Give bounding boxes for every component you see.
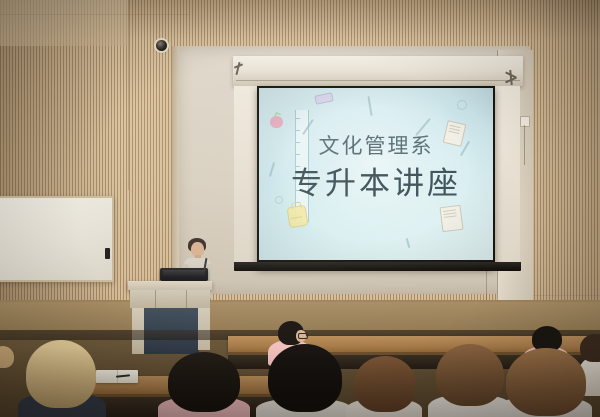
whiteboard-marker — [105, 248, 110, 259]
audience-hair — [268, 344, 342, 412]
whiteboard — [0, 196, 114, 282]
glasses-icon — [298, 333, 308, 339]
podium-top — [128, 281, 212, 290]
switch-cord — [524, 125, 525, 165]
wall-recess-left-edge — [172, 46, 179, 294]
wall-seam-vertical-left — [128, 0, 129, 190]
podium-leg-right — [198, 308, 210, 350]
wall-seam-vertical-right — [573, 0, 574, 330]
stage-baseboard — [0, 300, 600, 302]
audience-hair — [26, 340, 96, 408]
podium-seam-left — [155, 290, 156, 308]
podium-body — [130, 290, 210, 308]
podium-seam-right — [186, 290, 187, 308]
screen-bracket-right — [505, 70, 518, 86]
projector-screen-housing — [233, 56, 523, 86]
screen-bracket-left — [234, 62, 244, 76]
laptop-screen — [163, 270, 205, 276]
ceiling-sensor-dome — [156, 40, 167, 51]
audience-hair — [506, 348, 586, 416]
audience-hair — [354, 356, 416, 412]
slide-vignette — [259, 88, 493, 260]
projector-screen: 文化管理系 专升本讲座 — [257, 86, 495, 268]
presentation-slide: 文化管理系 专升本讲座 — [259, 88, 493, 260]
lecture-hall-photo: 文化管理系 专升本讲座 — [0, 0, 600, 417]
audience-hair — [436, 344, 504, 406]
projector-screen-housing-line — [236, 80, 520, 81]
screen-side-margin-right — [492, 86, 520, 268]
audience-hair — [580, 334, 600, 362]
audience-hair — [168, 352, 240, 412]
wall-switch-plate[interactable] — [520, 116, 530, 127]
wall-seam-horizontal-top — [0, 14, 190, 15]
screen-bottom-bar — [234, 262, 521, 271]
wall-panel-upper-left — [0, 0, 128, 46]
